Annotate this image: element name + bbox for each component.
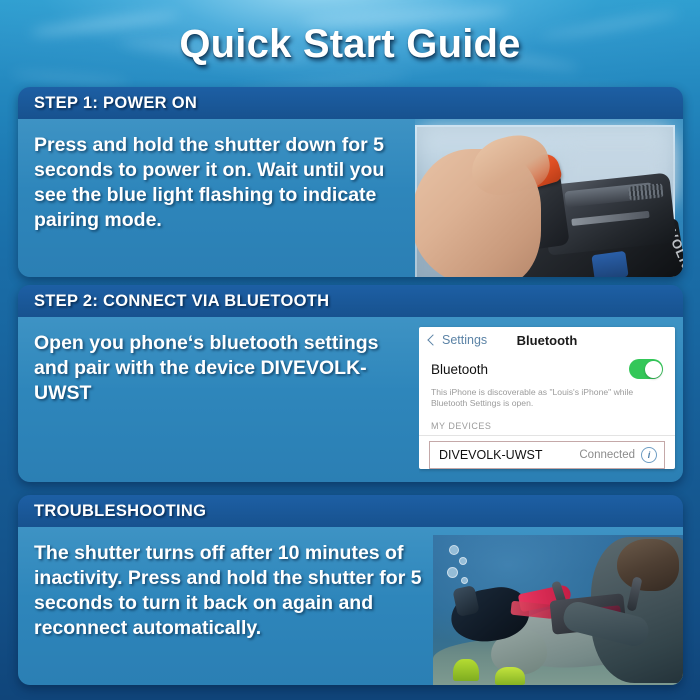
back-button-label: Settings (442, 333, 487, 347)
section-body-step-1: Press and hold the shutter down for 5 se… (18, 119, 683, 277)
section-header-troubleshooting: TROUBLESHOOTING (18, 495, 683, 527)
seagrass (495, 667, 525, 685)
section-text-step-1: Press and hold the shutter down for 5 se… (18, 119, 415, 277)
section-body-troubleshooting: The shutter turns off after 10 minutes o… (18, 527, 683, 685)
back-to-settings-button[interactable]: Settings (429, 333, 487, 347)
section-text-troubleshooting: The shutter turns off after 10 minutes o… (18, 527, 433, 685)
bubble (447, 567, 458, 578)
chevron-left-icon (427, 334, 438, 345)
bluetooth-navbar: Settings Bluetooth (419, 327, 675, 353)
photo-divers-with-dugong (433, 535, 683, 685)
section-step-1: STEP 1: POWER ON Press and hold the shut… (18, 87, 683, 277)
section-header-label: STEP 2: CONNECT VIA BLUETOOTH (34, 292, 329, 311)
bluetooth-toggle-label: Bluetooth (431, 362, 488, 377)
section-header-label: STEP 1: POWER ON (34, 94, 197, 113)
section-body-step-2: Open you phone‘s bluetooth settings and … (18, 317, 683, 482)
media-slot-step-2: Settings Bluetooth Bluetooth This iPhone… (419, 317, 683, 482)
info-icon[interactable]: i (641, 447, 657, 463)
device-row-status-group: Connected i (579, 447, 657, 463)
section-instructions: The shutter turns off after 10 minutes o… (34, 541, 423, 641)
toggle-knob (645, 361, 662, 378)
section-step-2: STEP 2: CONNECT VIA BLUETOOTH Open you p… (18, 285, 683, 482)
page-title: Quick Start Guide (0, 22, 700, 67)
section-divider (419, 435, 675, 436)
section-header-step-2: STEP 2: CONNECT VIA BLUETOOTH (18, 285, 683, 317)
bluetooth-toggle-row[interactable]: Bluetooth (419, 353, 675, 385)
housing-vents (628, 183, 663, 200)
section-instructions: Open you phone‘s bluetooth settings and … (34, 331, 409, 406)
device-row-divevolk-uwst[interactable]: DIVEVOLK-UWST Connected i (429, 441, 665, 469)
bubble (461, 577, 468, 584)
bubble (449, 545, 459, 555)
section-troubleshooting: TROUBLESHOOTING The shutter turns off af… (18, 495, 683, 685)
iphone-bluetooth-settings-card: Settings Bluetooth Bluetooth This iPhone… (419, 327, 675, 469)
section-instructions: Press and hold the shutter down for 5 se… (34, 133, 405, 233)
device-status-label: Connected (579, 449, 635, 461)
bluetooth-toggle-switch[interactable] (629, 359, 663, 379)
my-devices-section-label: MY DEVICES (419, 409, 675, 435)
section-header-step-1: STEP 1: POWER ON (18, 87, 683, 119)
media-slot-troubleshooting (433, 527, 683, 685)
foreground-diver-head (617, 539, 679, 591)
device-name-label: DIVEVOLK-UWST (439, 448, 543, 462)
housing-seam-line (571, 211, 649, 226)
media-slot-step-1: DIVEVOLK (415, 119, 683, 277)
section-header-label: TROUBLESHOOTING (34, 502, 206, 521)
blue-accent-tab (591, 251, 628, 277)
bubble (459, 557, 467, 565)
photo-hand-holding-shutter: DIVEVOLK (415, 125, 675, 277)
section-text-step-2: Open you phone‘s bluetooth settings and … (18, 317, 419, 482)
seagrass (453, 659, 479, 681)
bluetooth-description-text: This iPhone is discoverable as "Louis's … (419, 385, 675, 409)
